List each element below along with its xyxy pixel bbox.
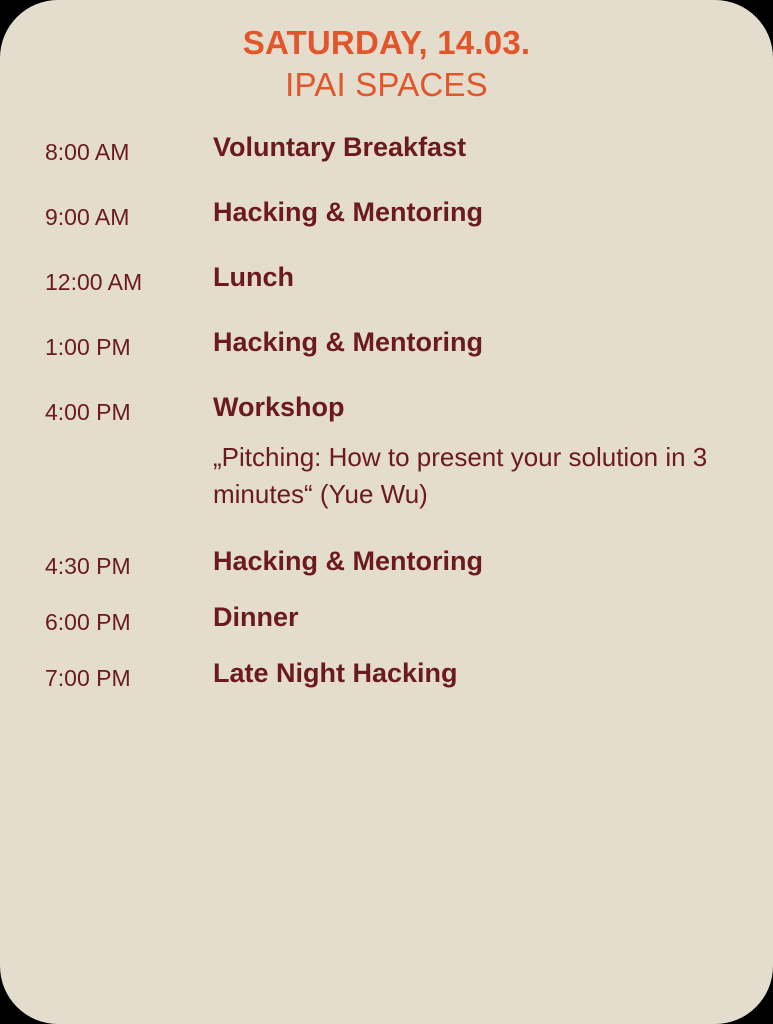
card-header: SATURDAY, 14.03. IPAI SPACES bbox=[0, 0, 773, 106]
row-time: 12:00 AM bbox=[45, 264, 213, 294]
row-body: Hacking & Mentoring bbox=[213, 199, 743, 226]
row-title: Hacking & Mentoring bbox=[213, 329, 743, 356]
row-time: 1:00 PM bbox=[45, 329, 213, 359]
row-title: Late Night Hacking bbox=[213, 660, 743, 687]
row-time: 4:00 PM bbox=[45, 394, 213, 424]
row-body: Hacking & Mentoring bbox=[213, 329, 743, 356]
row-time: 8:00 AM bbox=[45, 134, 213, 164]
row-time: 6:00 PM bbox=[45, 604, 213, 634]
row-body: Workshop „Pitching: How to present your … bbox=[213, 394, 743, 513]
header-venue: IPAI SPACES bbox=[0, 64, 773, 106]
schedule-row: 1:00 PM Hacking & Mentoring bbox=[45, 329, 743, 359]
schedule-card: SATURDAY, 14.03. IPAI SPACES 8:00 AM Vol… bbox=[0, 0, 773, 1024]
schedule-row: 7:00 PM Late Night Hacking bbox=[45, 660, 743, 690]
row-body: Dinner bbox=[213, 604, 743, 631]
row-body: Voluntary Breakfast bbox=[213, 134, 743, 161]
row-time: 4:30 PM bbox=[45, 548, 213, 578]
schedule-row: 4:00 PM Workshop „Pitching: How to prese… bbox=[45, 394, 743, 513]
row-body: Lunch bbox=[213, 264, 743, 291]
schedule-row: 6:00 PM Dinner bbox=[45, 604, 743, 634]
row-description: „Pitching: How to present your solution … bbox=[213, 439, 743, 513]
schedule-row: 12:00 AM Lunch bbox=[45, 264, 743, 294]
row-title: Workshop bbox=[213, 394, 743, 421]
schedule-list: 8:00 AM Voluntary Breakfast 9:00 AM Hack… bbox=[0, 134, 773, 690]
row-body: Hacking & Mentoring bbox=[213, 548, 743, 575]
header-date: SATURDAY, 14.03. bbox=[0, 22, 773, 64]
row-body: Late Night Hacking bbox=[213, 660, 743, 687]
row-title: Voluntary Breakfast bbox=[213, 134, 743, 161]
schedule-row: 9:00 AM Hacking & Mentoring bbox=[45, 199, 743, 229]
row-time: 9:00 AM bbox=[45, 199, 213, 229]
row-time: 7:00 PM bbox=[45, 660, 213, 690]
schedule-row: 4:30 PM Hacking & Mentoring bbox=[45, 548, 743, 578]
row-title: Hacking & Mentoring bbox=[213, 199, 743, 226]
row-title: Dinner bbox=[213, 604, 743, 631]
row-title: Hacking & Mentoring bbox=[213, 548, 743, 575]
row-title: Lunch bbox=[213, 264, 743, 291]
schedule-row: 8:00 AM Voluntary Breakfast bbox=[45, 134, 743, 164]
